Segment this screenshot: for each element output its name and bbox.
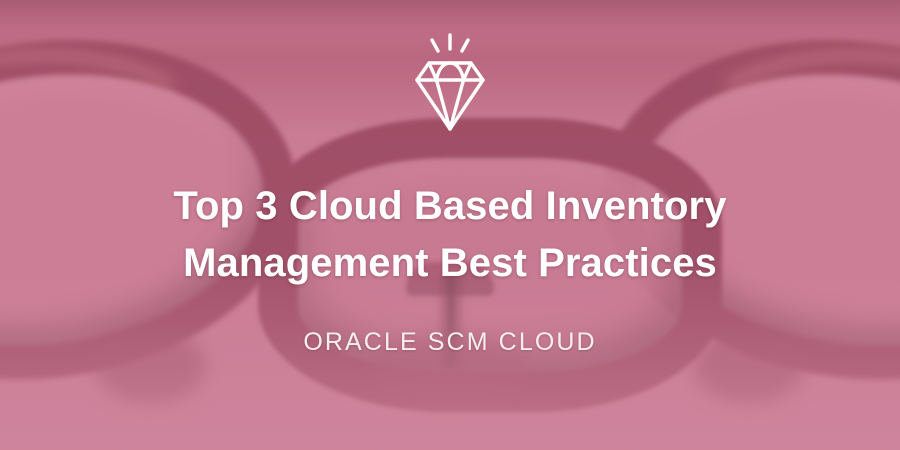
page-title: Top 3 Cloud Based Inventory Management B…	[173, 178, 726, 292]
subtitle: ORACLE SCM CLOUD	[303, 328, 596, 357]
banner-content: Top 3 Cloud Based Inventory Management B…	[0, 0, 900, 450]
headline-line-1: Top 3 Cloud Based Inventory	[173, 184, 726, 228]
diamond-icon	[413, 32, 487, 134]
headline-line-2: Management Best Practices	[173, 235, 726, 292]
promo-banner: Top 3 Cloud Based Inventory Management B…	[0, 0, 900, 450]
